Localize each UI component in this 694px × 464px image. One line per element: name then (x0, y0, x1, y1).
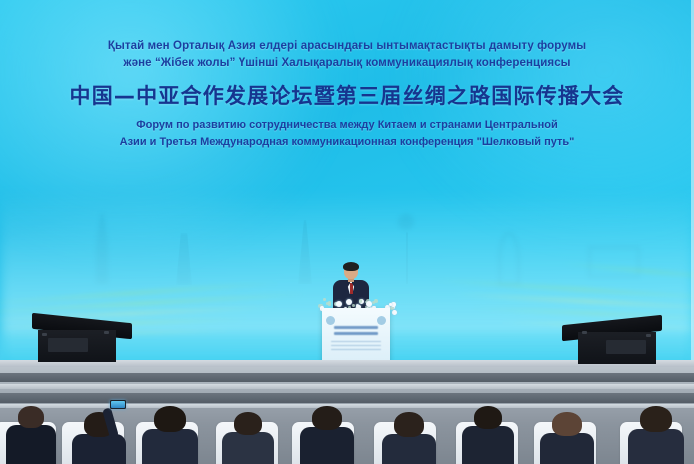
teleprompter-left-clip (42, 333, 47, 336)
audience-member-head (234, 412, 262, 435)
teleprompter-left-window (48, 338, 88, 352)
conference-photo: Қытай мен Орталық Азия елдері арасындағы… (0, 0, 694, 464)
teleprompter-right-window (606, 340, 646, 354)
audience-member-torso (462, 426, 514, 464)
smartphone-screen (111, 401, 125, 408)
flower-foliage (374, 299, 378, 303)
podium-subtitle-line-3 (331, 349, 381, 350)
audience-member (300, 406, 356, 464)
teleprompter-left-clip-2 (104, 331, 109, 334)
flower-foliage (323, 298, 326, 301)
audience-member-torso (72, 434, 126, 464)
flower-blossom (391, 302, 396, 307)
flower-foliage (328, 303, 331, 306)
flower-blossom (366, 301, 372, 307)
audience-member-torso (300, 427, 354, 464)
flower-foliage (359, 299, 362, 302)
audience-member-torso (222, 432, 274, 464)
audience-member-torso (6, 425, 56, 464)
teleprompter-right-clip-2 (646, 334, 651, 337)
stage-step-edge-3 (0, 384, 694, 389)
title-russian-line-1: Форум по развитию сотрудничества между К… (0, 117, 694, 134)
flower-blossom (346, 299, 352, 305)
podium-emblem-left-icon (326, 316, 335, 325)
audience-member (142, 406, 200, 464)
audience-member (540, 412, 596, 464)
audience-member (382, 412, 438, 464)
audience-member-head (18, 406, 44, 428)
podium-emblem-right-icon (377, 316, 386, 325)
audience-member-head (312, 406, 342, 430)
podium-subtitle-line-2 (331, 345, 381, 346)
teleprompter-right-clip (582, 331, 587, 334)
title-kazakh-line-1: Қытай мен Орталық Азия елдері арасындағы… (0, 38, 694, 55)
audience-member-head (552, 412, 582, 436)
audience-member (462, 406, 516, 464)
speaker-podium (322, 308, 390, 364)
speaker-tie (350, 283, 353, 294)
stage-step-edge-2 (0, 373, 694, 382)
teleprompter-left (28, 318, 132, 364)
audience-member-torso (628, 429, 684, 464)
audience-member-head (154, 406, 186, 432)
audience-member-head (640, 406, 672, 432)
audience-member-head (474, 406, 502, 429)
teleprompter-right (562, 318, 666, 364)
audience-member-torso (382, 434, 436, 464)
podium-subtitle-line-1 (331, 341, 381, 342)
audience-member (6, 406, 58, 464)
audience-member-head (394, 412, 424, 437)
flower-blossom (336, 301, 342, 307)
audience-member-filming (72, 412, 128, 464)
audience-member (222, 412, 276, 464)
flower-blossom (392, 310, 397, 315)
audience-member-torso (540, 433, 594, 464)
audience-seating (0, 392, 694, 464)
audience-member-torso (142, 429, 198, 464)
speaker-hair (343, 262, 359, 271)
podium-title-line-1 (334, 326, 378, 329)
audience-member (628, 406, 686, 464)
title-russian-line-2: Азии и Третья Международная коммуникацио… (0, 134, 694, 151)
backdrop-title-block: Қытай мен Орталық Азия елдері арасындағы… (0, 0, 694, 151)
title-chinese: 中国—中亚合作发展论坛暨第三届丝绸之路国际传播大会 (0, 81, 694, 111)
title-kazakh-line-2: және “Жібек жолы” Үшінші Халықаралық ком… (0, 55, 694, 72)
smartphone-recording (110, 400, 126, 409)
podium-title-line-2 (334, 332, 378, 335)
